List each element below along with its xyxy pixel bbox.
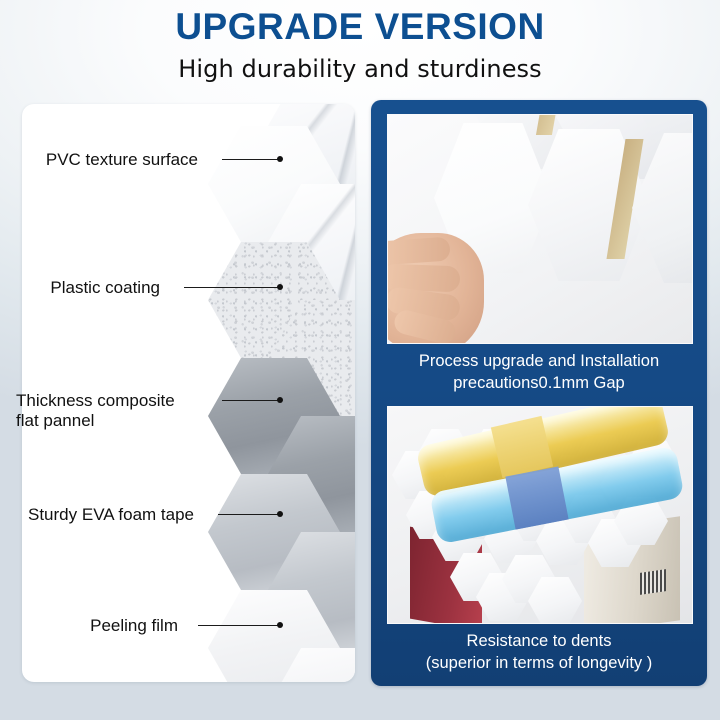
bottle-blue-label — [505, 466, 568, 529]
label-pvc-texture-surface: PVC texture surface — [16, 150, 198, 170]
label-plastic-coating: Plastic coating — [16, 278, 160, 298]
leader-line-1 — [222, 159, 280, 160]
label-peeling-film: Peeling film — [16, 616, 178, 636]
caption-process-upgrade: Process upgrade and Installation precaut… — [381, 350, 697, 395]
leader-dot-3 — [277, 397, 283, 403]
leader-line-4 — [218, 514, 280, 515]
leader-line-5 — [198, 625, 280, 626]
leader-dot-4 — [277, 511, 283, 517]
caption-resistance-to-dents: Resistance to dents (superior in terms o… — [381, 630, 697, 675]
label-thickness-composite-flat-pannel: Thickness composite flat pannel — [16, 391, 198, 431]
leader-dot-1 — [277, 156, 283, 162]
infographic-root: UPGRADE VERSION High durability and stur… — [0, 0, 720, 720]
photo-hand-holding-tile — [387, 114, 693, 344]
barcode — [640, 569, 666, 595]
label-sturdy-eva-foam-tape: Sturdy EVA foam tape — [16, 505, 194, 525]
photo-dent-resistance — [387, 406, 693, 624]
leader-line-3 — [222, 400, 280, 401]
page-subtitle: High durability and sturdiness — [0, 55, 720, 83]
leader-dot-2 — [277, 284, 283, 290]
page-title: UPGRADE VERSION — [0, 8, 720, 47]
leader-line-2 — [184, 287, 280, 288]
feature-panel: Process upgrade and Installation precaut… — [371, 100, 707, 686]
leader-dot-5 — [277, 622, 283, 628]
